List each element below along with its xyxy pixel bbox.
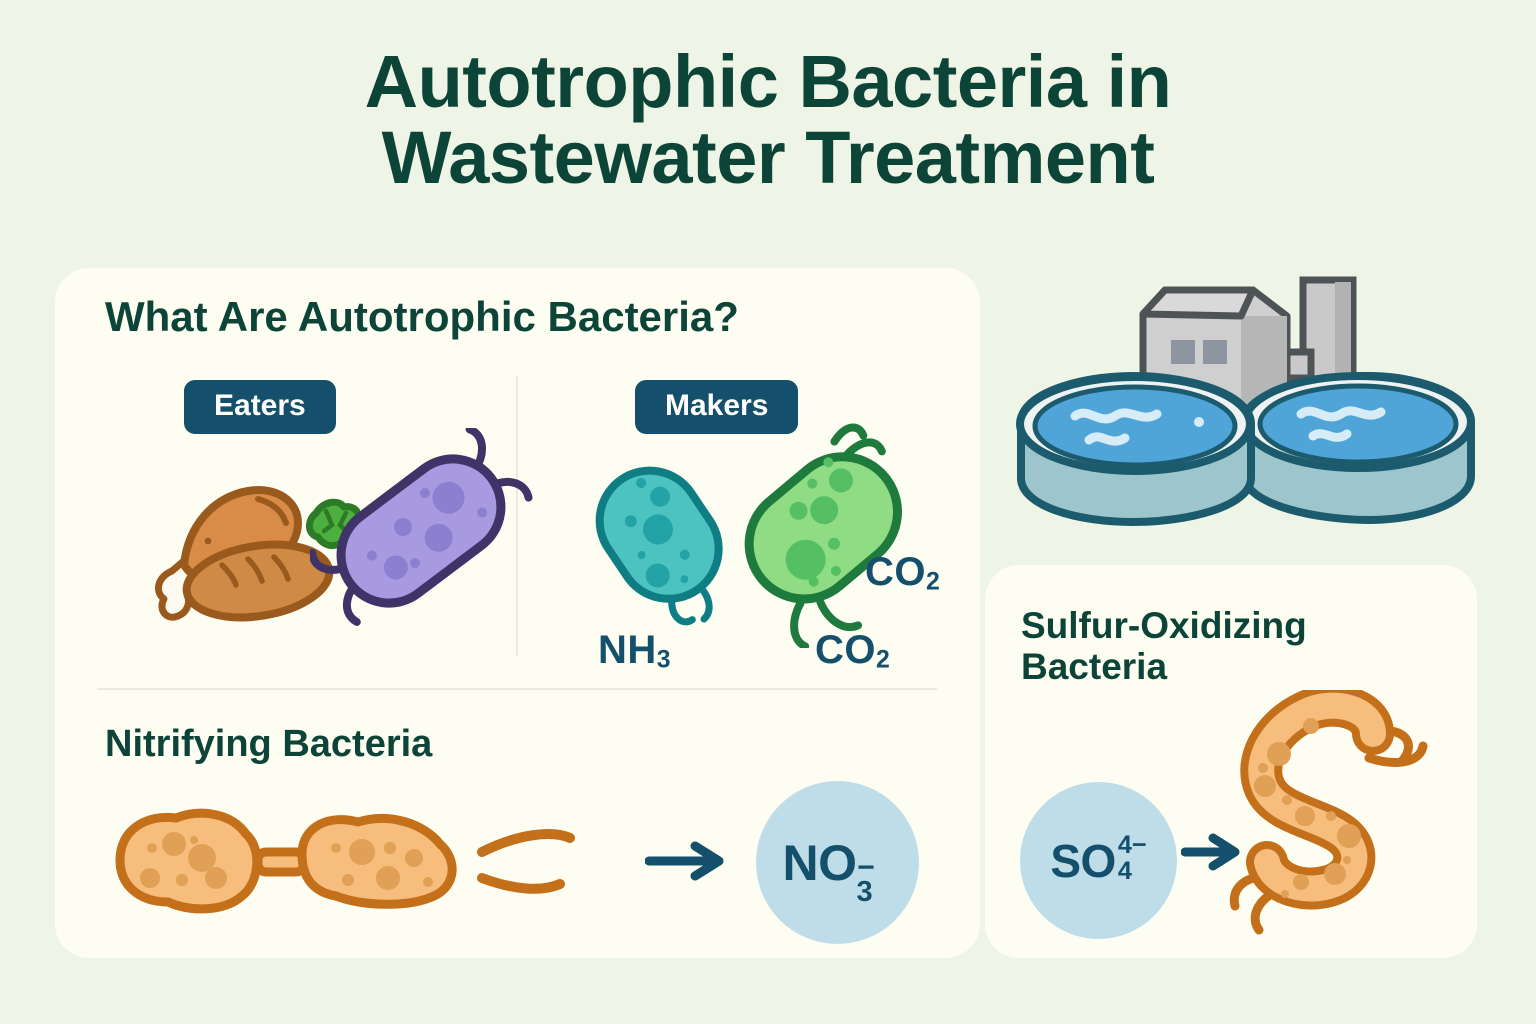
- mol-no3-superscript: −: [857, 851, 875, 885]
- chem-co2-top-formula: CO: [865, 550, 926, 594]
- page-title: Autotrophic Bacteria in Wastewater Treat…: [0, 44, 1536, 196]
- chem-nh3-subscript: 3: [657, 646, 671, 673]
- main-card: What Are Autotrophic Bacteria? Eaters Ma…: [55, 268, 980, 958]
- arrow-right-icon: [645, 838, 730, 889]
- sulfur-card: Sulfur-Oxidizing Bacteria SO4−4: [985, 565, 1477, 958]
- orange-paired-bacteria-icon: [90, 786, 620, 941]
- main-card-heading: What Are Autotrophic Bacteria?: [105, 293, 739, 341]
- purple-rod-bacterium-icon: [310, 428, 540, 653]
- chem-nh3-formula: NH: [598, 628, 657, 672]
- mol-so4-subscript: 4: [1118, 859, 1132, 884]
- chem-co2-top-subscript: 2: [926, 568, 940, 595]
- nitrifying-heading: Nitrifying Bacteria: [105, 723, 432, 766]
- badge-eaters[interactable]: Eaters: [184, 380, 336, 434]
- molecule-badge-so4: SO4−4: [1020, 782, 1177, 939]
- chem-label-co2-bottom: CO2: [815, 628, 890, 674]
- chem-label-nh3: NH3: [598, 628, 671, 674]
- infographic-canvas: Autotrophic Bacteria in Wastewater Treat…: [0, 0, 1536, 1024]
- molecule-badge-no3: NO3−: [756, 781, 919, 944]
- horizontal-divider: [97, 688, 937, 690]
- chem-co2-bottom-formula: CO: [815, 628, 876, 672]
- mol-so4-formula: SO: [1050, 834, 1115, 888]
- mol-so4-superscript: 4−: [1118, 833, 1147, 858]
- wastewater-treatment-plant-icon: [1013, 272, 1481, 539]
- chem-label-co2-top: CO2: [865, 550, 940, 596]
- orange-spiral-bacterium-icon: [1223, 690, 1448, 940]
- chem-co2-bottom-subscript: 2: [876, 646, 890, 673]
- mol-no3-formula: NO: [783, 834, 857, 892]
- green-rod-bacterium-icon: [715, 423, 935, 653]
- sulfur-card-heading: Sulfur-Oxidizing Bacteria: [1021, 605, 1307, 688]
